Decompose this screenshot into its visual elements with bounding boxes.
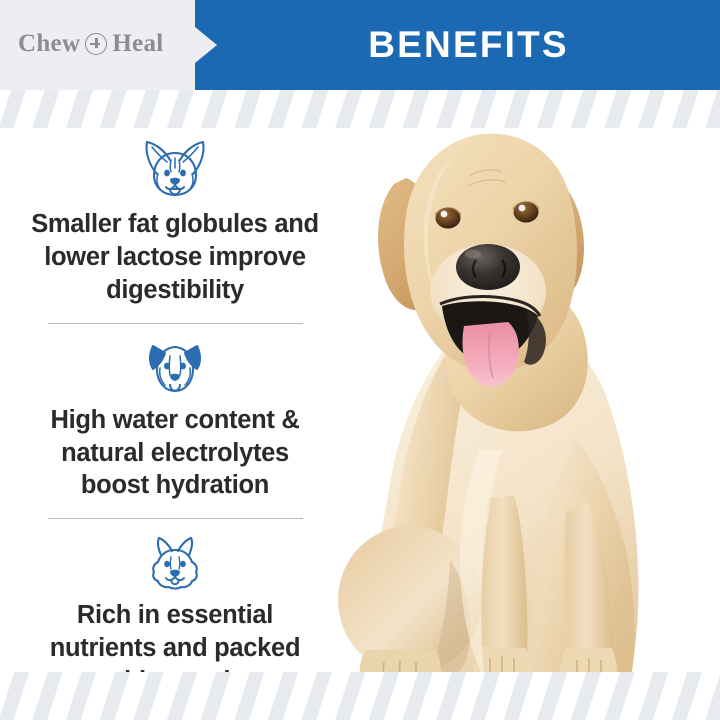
icon-right-eye xyxy=(180,170,186,177)
samoyed-dog-head-icon xyxy=(141,533,209,591)
decorative-stripes-bottom xyxy=(0,672,720,720)
icon-nose xyxy=(170,178,180,185)
dog-left-eye-glint xyxy=(441,211,448,218)
benefit-item-2: High water content & natural electrolyte… xyxy=(16,338,334,503)
benefit-divider-1 xyxy=(48,323,303,324)
corgi-dog-head-icon xyxy=(138,134,212,200)
dog-nose xyxy=(456,244,520,290)
dog-right-eye-glint xyxy=(519,205,526,212)
icon-right-eye xyxy=(180,362,186,369)
terrier-dog-head-icon xyxy=(140,338,210,396)
benefits-list: Smaller fat globules and lower lactose i… xyxy=(16,132,334,698)
benefit-text-1: Smaller fat globules and lower lactose i… xyxy=(25,208,325,307)
brand-logo: Chew Heal xyxy=(18,30,164,58)
icon-tongue xyxy=(170,384,180,391)
icon-left-eye xyxy=(164,561,170,567)
circled-plus-icon xyxy=(85,33,107,55)
benefit-divider-2 xyxy=(48,518,303,519)
header-bar: Chew Heal BENEFITS xyxy=(0,0,720,90)
dog-photo xyxy=(330,120,720,675)
logo-word-heal: Heal xyxy=(112,30,163,58)
icon-nose xyxy=(170,570,180,577)
icon-right-eye xyxy=(180,561,186,567)
page-title: BENEFITS xyxy=(217,0,720,90)
benefits-infographic: Chew Heal BENEFITS xyxy=(0,0,720,720)
icon-tongue xyxy=(170,189,180,194)
benefit-text-2: High water content & natural electrolyte… xyxy=(25,404,325,503)
logo-word-chew: Chew xyxy=(18,30,80,58)
icon-left-eye xyxy=(164,362,170,369)
icon-left-eye xyxy=(164,170,170,177)
dog-nose-highlight xyxy=(465,250,481,259)
benefit-item-1: Smaller fat globules and lower lactose i… xyxy=(16,132,334,307)
icon-nose xyxy=(170,373,180,380)
